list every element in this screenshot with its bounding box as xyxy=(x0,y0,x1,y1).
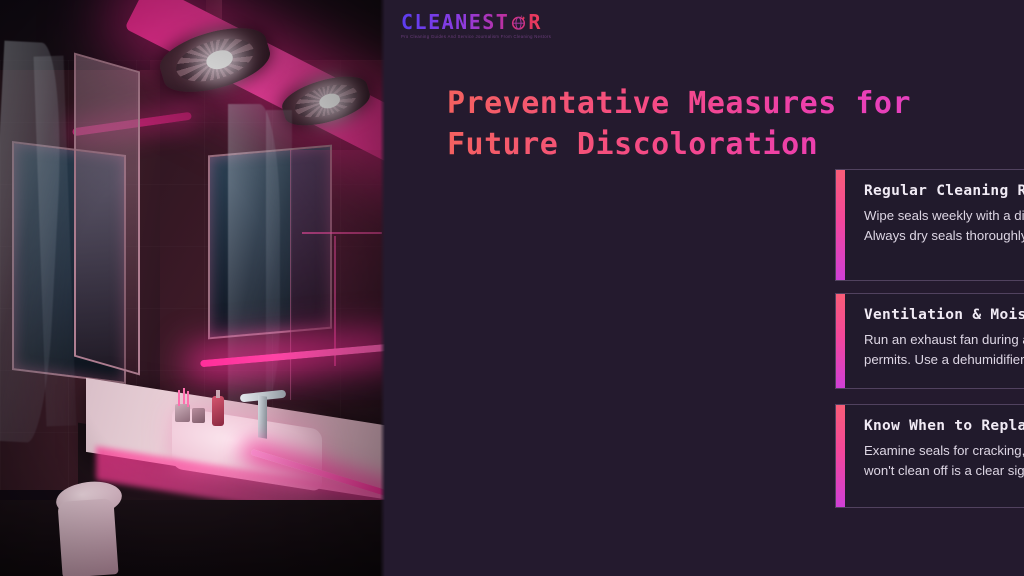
measure-card[interactable]: Know When to Replace Examine seals for c… xyxy=(835,404,1024,508)
brand-logo[interactable]: CLEANEST R Pro Cleaning Guides And Servi… xyxy=(401,12,551,39)
card-content: Regular Cleaning Routine Wipe seals week… xyxy=(845,170,1024,280)
slide: CLEANEST R Pro Cleaning Guides And Servi… xyxy=(0,0,1024,576)
card-body: Run an exhaust fan during and after show… xyxy=(864,330,1024,370)
globe-icon xyxy=(510,14,527,31)
measure-card[interactable]: Regular Cleaning Routine Wipe seals week… xyxy=(835,169,1024,281)
card-title: Know When to Replace xyxy=(864,418,1024,434)
card-accent-bar xyxy=(836,170,845,280)
logo-tagline: Pro Cleaning Guides And Service Journali… xyxy=(401,34,551,39)
card-content: Ventilation & Moisture Control Run an ex… xyxy=(845,294,1024,388)
logo-text-primary: CLEANEST xyxy=(401,12,509,32)
card-accent-bar xyxy=(836,294,845,388)
card-title: Ventilation & Moisture Control xyxy=(864,307,1024,323)
content-panel: CLEANEST R Pro Cleaning Guides And Servi… xyxy=(385,0,1024,576)
card-content: Know When to Replace Examine seals for c… xyxy=(845,405,1024,507)
card-body: Wipe seals weekly with a diluted vinegar… xyxy=(864,206,1024,246)
bathroom-photo xyxy=(0,0,385,576)
photo-vignette xyxy=(0,0,385,576)
card-title: Regular Cleaning Routine xyxy=(864,183,1024,199)
measure-card[interactable]: Ventilation & Moisture Control Run an ex… xyxy=(835,293,1024,389)
logo-wordmark: CLEANEST R xyxy=(401,12,551,32)
page-title: Preventative Measures for Future Discolo… xyxy=(447,83,992,166)
card-body: Examine seals for cracking, brittleness,… xyxy=(864,441,1024,481)
logo-text-secondary: R xyxy=(528,12,542,32)
card-accent-bar xyxy=(836,405,845,507)
